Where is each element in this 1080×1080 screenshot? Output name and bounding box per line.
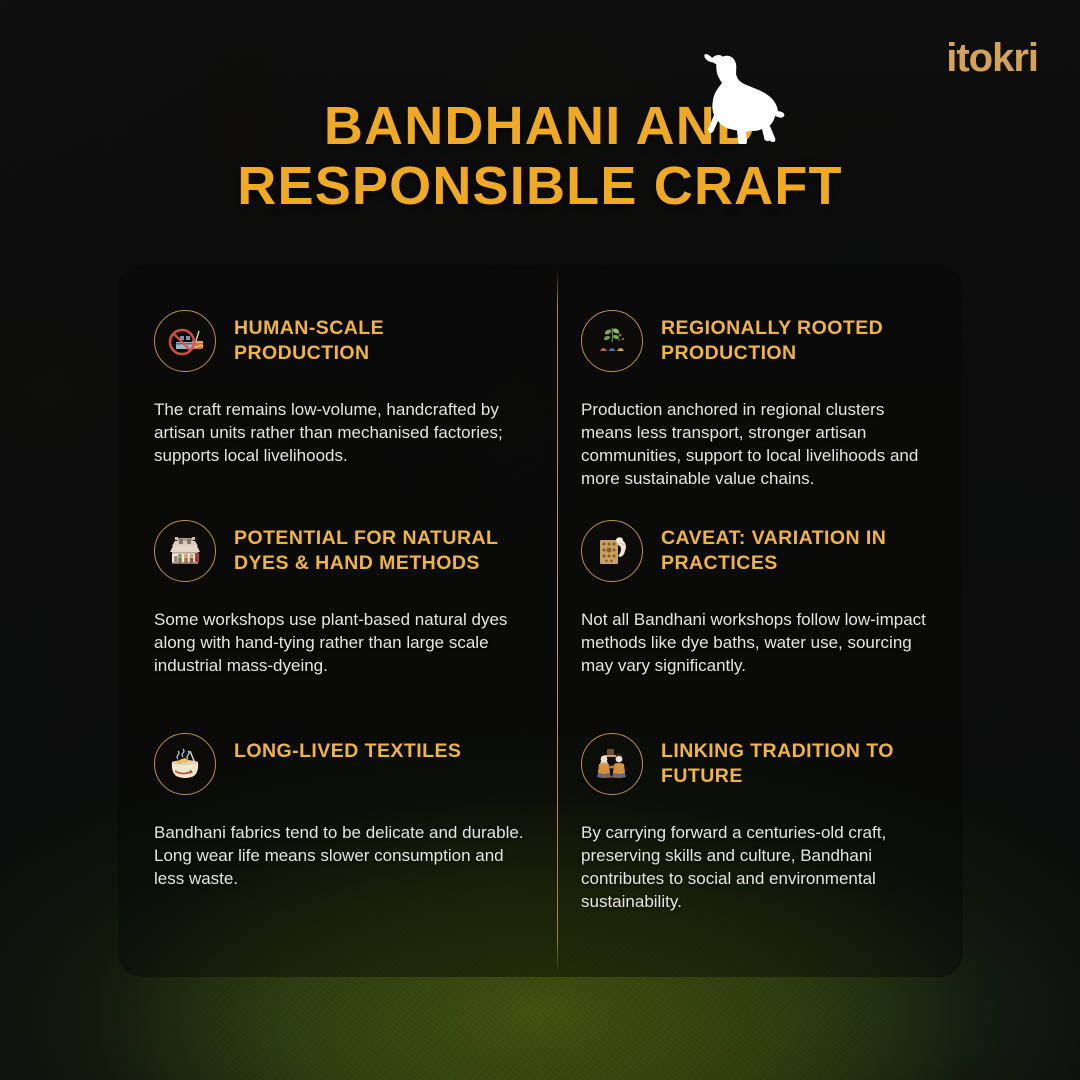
card-header: REGIONALLY ROOTED PRODUCTION [581, 310, 933, 372]
page-title: BANDHANI AND RESPONSIBLE CRAFT [0, 96, 1080, 217]
card-caveat-variation-in-practices: CAVEAT: VARIATION IN PRACTICES Not all B… [559, 475, 963, 685]
artisan-workshop-building-icon [154, 520, 216, 582]
title-line-2: RESPONSIBLE CRAFT [120, 156, 960, 216]
card-title: POTENTIAL FOR NATURAL DYES & HAND METHOD… [234, 520, 524, 575]
steaming-dye-pot-icon [154, 733, 216, 795]
card-header: LONG-LIVED TEXTILES [154, 733, 537, 795]
card-header: LINKING TRADITION TO FUTURE [581, 733, 933, 795]
card-header: POTENTIAL FOR NATURAL DYES & HAND METHOD… [154, 520, 537, 582]
two-artisans-working-icon [581, 733, 643, 795]
card-title: REGIONALLY ROOTED PRODUCTION [661, 310, 929, 365]
card-header: HUMAN-SCALE PRODUCTION [154, 310, 537, 372]
goat-logo-mark [686, 52, 798, 144]
title-line-1: BANDHANI AND [120, 96, 960, 156]
infographic-canvas: itokri BANDHANI AND RESPONSIBLE CRAFT [0, 0, 1080, 1080]
card-title: LINKING TRADITION TO FUTURE [661, 733, 929, 788]
card-long-lived-textiles: LONG-LIVED TEXTILES Bandhani fabrics ten… [118, 685, 559, 977]
card-header: CAVEAT: VARIATION IN PRACTICES [581, 520, 933, 582]
card-title: LONG-LIVED TEXTILES [234, 733, 461, 764]
card-linking-tradition-to-future: LINKING TRADITION TO FUTURE By carrying … [559, 685, 963, 977]
card-body: The craft remains low-volume, handcrafte… [154, 398, 537, 467]
no-factory-icon [154, 310, 216, 372]
card-regionally-rooted-production: REGIONALLY ROOTED PRODUCTION Production … [559, 265, 963, 475]
brand-logo-text: itokri [946, 38, 1038, 78]
hand-holding-patterned-cloth-icon [581, 520, 643, 582]
content-panel: HUMAN-SCALE PRODUCTION The craft remains… [118, 265, 963, 977]
leaves-and-pigment-mounds-icon [581, 310, 643, 372]
brand-logo-itokri[interactable]: itokri [946, 38, 1038, 78]
card-body: Bandhani fabrics tend to be delicate and… [154, 821, 537, 890]
card-natural-dyes-hand-methods: POTENTIAL FOR NATURAL DYES & HAND METHOD… [118, 475, 559, 685]
card-title: HUMAN-SCALE PRODUCTION [234, 310, 524, 365]
card-body: Not all Bandhani workshops follow low-im… [581, 608, 933, 677]
cards-grid: HUMAN-SCALE PRODUCTION The craft remains… [118, 265, 963, 977]
card-body: Some workshops use plant-based natural d… [154, 608, 537, 677]
card-body: By carrying forward a centuries-old craf… [581, 821, 933, 913]
card-title: CAVEAT: VARIATION IN PRACTICES [661, 520, 929, 575]
card-human-scale-production: HUMAN-SCALE PRODUCTION The craft remains… [118, 265, 559, 475]
